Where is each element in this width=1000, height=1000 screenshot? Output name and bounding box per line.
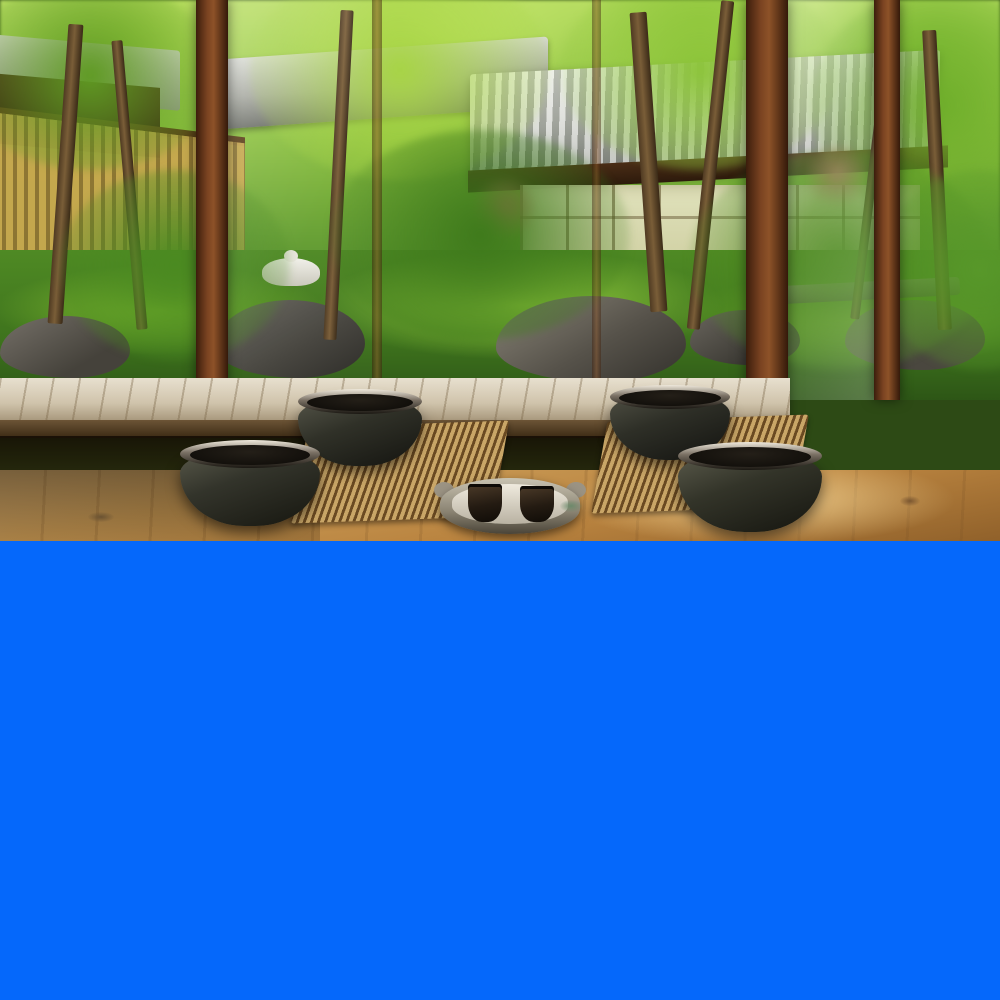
sliding-door-frame xyxy=(746,0,788,430)
ceramic-pot-opening xyxy=(307,394,413,411)
window-glass-sheen xyxy=(788,0,874,400)
ceramic-pot-opening xyxy=(689,447,811,467)
ceramic-pot-opening xyxy=(190,445,310,465)
window-mullion xyxy=(592,0,601,405)
blue-banner: Healthy Home Design • Homes for Health •… xyxy=(0,541,1000,1000)
table-knot xyxy=(560,500,582,512)
table-knot xyxy=(88,512,114,522)
tea-cup xyxy=(468,484,502,522)
hero-photo xyxy=(0,0,1000,541)
tea-cup xyxy=(520,486,554,522)
table-knot xyxy=(900,496,920,506)
healthy-home-design-card: Healthy Home Design • Homes for Health •… xyxy=(0,0,1000,1000)
sliding-door-frame xyxy=(874,0,900,400)
ceramic-pot-opening xyxy=(619,390,721,406)
window-mullion xyxy=(372,0,382,400)
sliding-door-frame xyxy=(196,0,228,420)
window-glass-sheen xyxy=(228,0,372,380)
